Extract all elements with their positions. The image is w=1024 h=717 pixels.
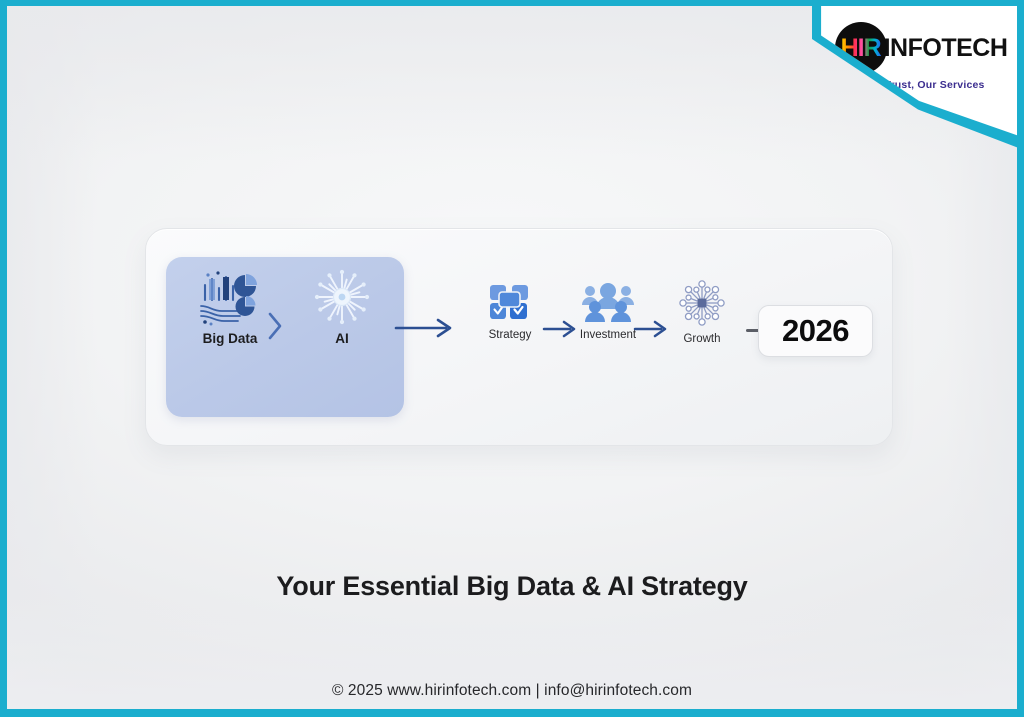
flow-stage-label: Growth: [658, 333, 746, 345]
brand-logo-word: INFOTECH: [884, 34, 1008, 63]
brand-logo-mark-text: HIR: [841, 34, 881, 63]
network-hub-icon: [658, 277, 746, 329]
flow-stage-growth[interactable]: Growth: [658, 277, 746, 345]
main-arrow-right-icon: [394, 317, 456, 344]
poster-canvas: HIR INFOTECH Your Trust, Our Services: [7, 6, 1017, 709]
year-badge[interactable]: 2026: [758, 305, 873, 357]
footer-credit: © 2025 www.hirinfotech.com | info@hirinf…: [7, 682, 1017, 700]
brand-tagline: Your Trust, Our Services: [857, 79, 984, 91]
year-badge-value: 2026: [782, 313, 849, 349]
flow-node-ai[interactable]: AI: [294, 269, 390, 346]
poster-frame: HIR INFOTECH Your Trust, Our Services: [0, 0, 1024, 717]
page-title: Your Essential Big Data & AI Strategy: [7, 571, 1017, 602]
brand-logo-badge: HIR INFOTECH Your Trust, Our Services: [812, 6, 1017, 150]
hir-circle-icon: HIR: [835, 22, 887, 74]
flow-node-label: AI: [294, 331, 390, 346]
flow-diagram-card: Big Data: [145, 228, 893, 446]
ai-neural-burst-icon: [294, 269, 390, 327]
brand-logo-row: HIR INFOTECH: [835, 22, 1008, 74]
chevron-right-icon: [266, 311, 284, 346]
brand-logo: HIR INFOTECH Your Trust, Our Services: [818, 6, 1017, 142]
